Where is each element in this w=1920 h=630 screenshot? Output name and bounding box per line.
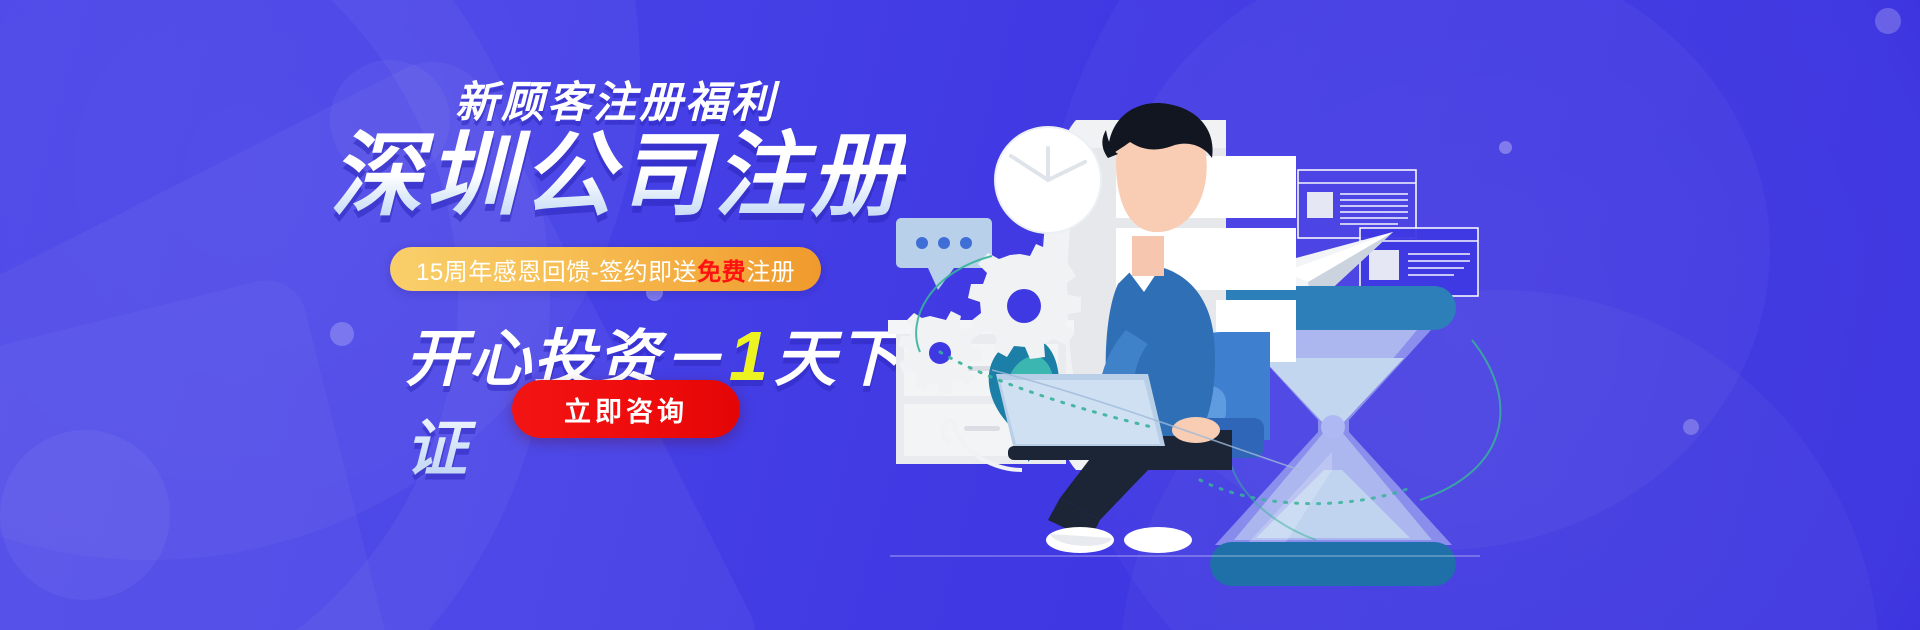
promo-badge: 15周年感恩回馈-签约即送免费注册 (390, 247, 821, 291)
promo-banner: 新顾客注册福利 深圳公司注册 15周年感恩回馈-签约即送免费注册 开心投资－1天… (0, 0, 1920, 630)
consult-now-button[interactable]: 立即咨询 (512, 380, 740, 438)
copy-column: 新顾客注册福利 深圳公司注册 15周年感恩回馈-签约即送免费注册 开心投资－1天… (0, 0, 960, 630)
headline-title: 深圳公司注册 (330, 128, 906, 226)
headline-tagline-number: 1 (725, 317, 774, 395)
consult-now-label: 立即咨询 (564, 390, 688, 429)
promo-badge-text-before: 15周年感恩回馈-签约即送 (416, 252, 697, 287)
clock-icon (995, 127, 1101, 233)
illustration (880, 0, 1920, 630)
headline-subtitle: 新顾客注册福利 (455, 68, 777, 130)
promo-badge-text-after: 注册 (746, 252, 795, 287)
promo-badge-text-highlight: 免费 (697, 252, 746, 287)
